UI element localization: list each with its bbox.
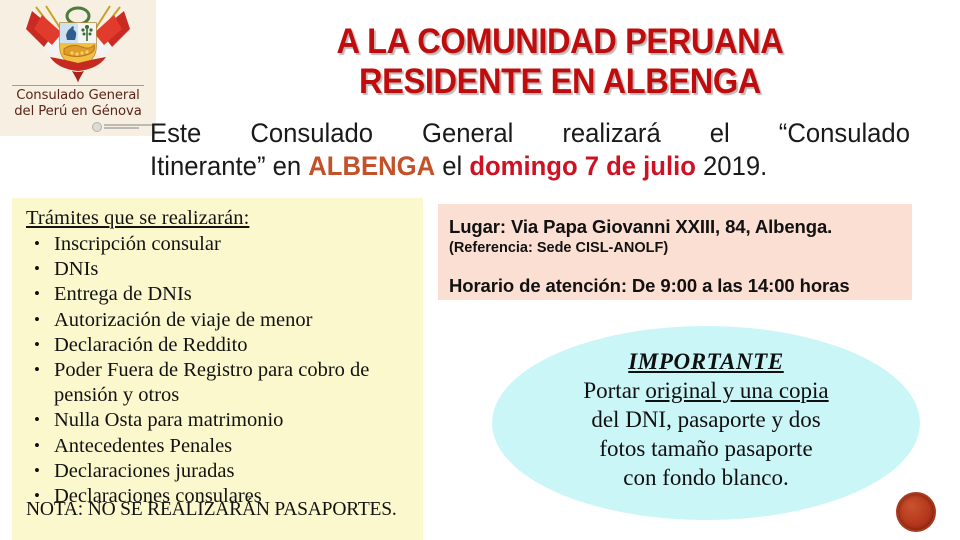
list-item: Autorización de viaje de menor xyxy=(30,308,415,333)
venue-address: Lugar: Via Papa Giovanni XXIII, 84, Albe… xyxy=(449,216,912,238)
consulate-name-line1: Consulado General xyxy=(16,88,140,103)
list-item: Entrega de DNIs xyxy=(30,282,415,307)
ministry-wordmark xyxy=(104,124,154,129)
importante-line-3: fotos tamaño pasaporte xyxy=(492,434,920,463)
intro-word: el xyxy=(710,117,730,150)
intro-word: Este xyxy=(150,117,201,150)
importante-line-4: con fondo blanco. xyxy=(492,463,920,492)
logo-divider xyxy=(12,85,144,86)
city-highlight: ALBENGA xyxy=(308,151,435,181)
list-item: Nulla Osta para matrimonio xyxy=(30,408,415,433)
importante-text-before: Portar xyxy=(583,378,645,403)
ministry-wordmark-line xyxy=(104,127,139,129)
intro-word: “Consulado xyxy=(779,117,910,150)
list-item: DNIs xyxy=(30,257,415,282)
intro-text-middle: el xyxy=(435,151,469,181)
ministry-wordmark-line xyxy=(104,124,154,126)
list-item: Inscripción consular xyxy=(30,232,415,257)
venue-reference: (Referencia: Sede CISL-ANOLF) xyxy=(449,238,912,258)
importante-callout: IMPORTANTE Portar original y una copia d… xyxy=(492,326,920,520)
importante-body: Portar original y una copia del DNI, pas… xyxy=(492,376,920,492)
ministry-seal-icon xyxy=(92,122,102,132)
importante-line-2: del DNI, pasaporte y dos xyxy=(492,405,920,434)
tramites-heading: Trámites que se realizarán: xyxy=(26,206,423,231)
tramites-note: NOTA: NO SE REALIZARÁN PASAPORTES. xyxy=(26,498,397,522)
list-item: Poder Fuera de Registro para cobro de pe… xyxy=(30,358,415,408)
intro-paragraph: Este Consulado General realizará el “Con… xyxy=(150,117,910,183)
venue-schedule: Horario de atención: De 9:00 a las 14:00… xyxy=(449,275,912,297)
consulate-name: Consulado General del Perú en Génova xyxy=(0,88,156,119)
intro-line-1: Este Consulado General realizará el “Con… xyxy=(150,117,910,150)
consulate-logo-box: Consulado General del Perú en Génova xyxy=(0,0,156,136)
importante-underlined-text: original y una copia xyxy=(645,378,828,403)
intro-line-2: Itinerante” en ALBENGA el domingo 7 de j… xyxy=(150,150,910,183)
page-title-line1: A LA COMUNIDAD PERUANA xyxy=(188,22,932,62)
intro-year: 2019. xyxy=(696,151,767,181)
importante-heading: IMPORTANTE xyxy=(492,348,920,375)
consulate-name-line2: del Perú en Génova xyxy=(14,104,141,119)
consulate-seal-stamp-icon xyxy=(896,492,936,532)
page-title-line2: RESIDENTE EN ALBENGA xyxy=(188,62,932,102)
tramites-panel: Trámites que se realizarán: Inscripción … xyxy=(12,198,423,540)
list-item: Declaraciones juradas xyxy=(30,459,415,484)
poster-canvas: Consulado General del Perú en Génova A L… xyxy=(0,0,960,540)
date-highlight: domingo 7 de julio xyxy=(469,151,696,181)
intro-word: General xyxy=(422,117,513,150)
intro-word: Consulado xyxy=(250,117,373,150)
peru-coat-of-arms-icon xyxy=(22,3,134,83)
intro-text-before-city: Itinerante” en xyxy=(150,151,308,181)
importante-line-1: Portar original y una copia xyxy=(492,376,920,405)
list-item: Declaración de Reddito xyxy=(30,333,415,358)
list-item: Antecedentes Penales xyxy=(30,434,415,459)
intro-word: realizará xyxy=(562,117,660,150)
venue-panel: Lugar: Via Papa Giovanni XXIII, 84, Albe… xyxy=(438,204,912,300)
ministry-logo-icon xyxy=(92,121,154,132)
page-title: A LA COMUNIDAD PERUANA RESIDENTE EN ALBE… xyxy=(188,22,932,102)
tramites-list: Inscripción consular DNIs Entrega de DNI… xyxy=(12,232,423,509)
